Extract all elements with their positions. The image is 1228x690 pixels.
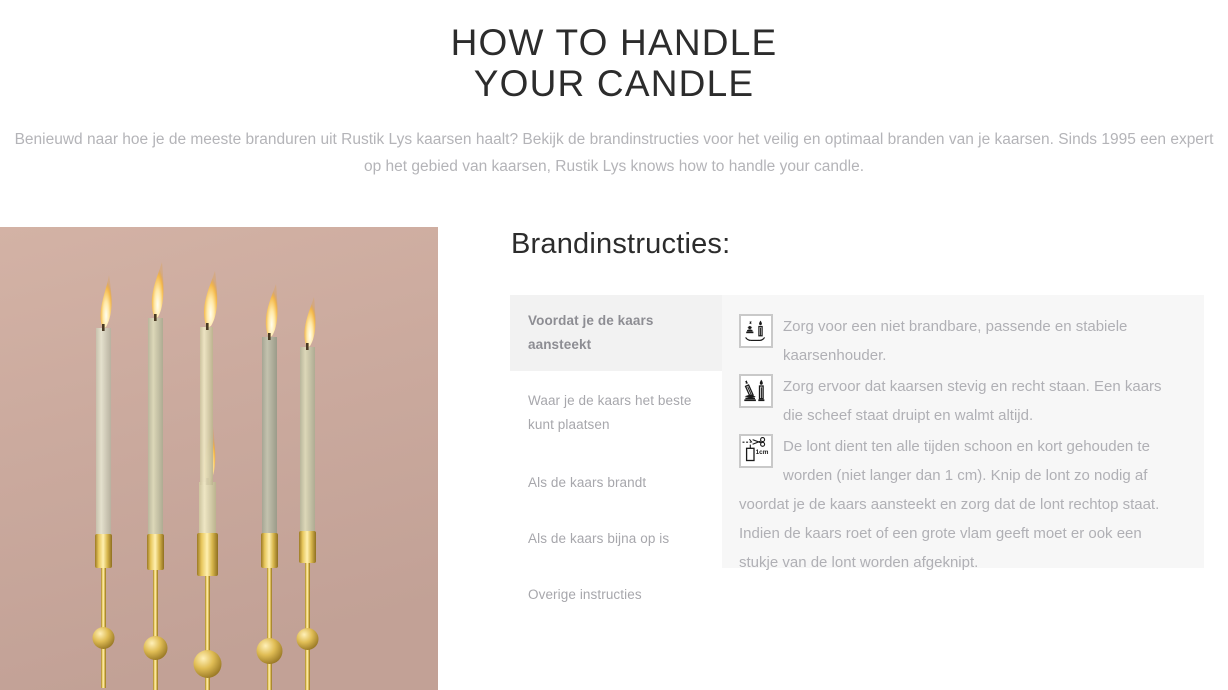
- tab-waar-je-de-kaars-het-beste-kunt-plaatsen[interactable]: Waar je de kaars het beste kunt plaatsen: [510, 371, 722, 455]
- instruction-text: Zorg voor een niet brandbare, passende e…: [783, 318, 1127, 364]
- section-title: Brandinstructies:: [510, 227, 1204, 261]
- instructions-column: Brandinstructies:: [510, 227, 1204, 261]
- instruction-text: Zorg ervoor dat kaarsen stevig en recht …: [783, 378, 1162, 424]
- page-title-line-2: YOUR CANDLE: [164, 63, 1064, 104]
- candle-photo: [0, 227, 438, 690]
- candle-upright-icon-glyph: [741, 376, 771, 406]
- candle-upright-icon: [739, 374, 773, 408]
- instructions-tabs: Voordat je de kaars aansteekt Waar je de…: [510, 295, 1204, 568]
- instruction-item: Zorg voor een niet brandbare, passende e…: [739, 312, 1182, 370]
- trim-wick-icon-label: 1cm: [756, 449, 769, 456]
- trim-wick-scissors-icon: 1cm: [739, 434, 773, 468]
- candle-photo-illustration: [0, 227, 438, 690]
- tab-overige-instructies[interactable]: Overige instructies: [510, 567, 722, 623]
- page-title-line-1: HOW TO HANDLE: [451, 22, 778, 63]
- candle-holder-stable-icon-glyph: [741, 316, 771, 346]
- page-root: HOW TO HANDLE YOUR CANDLE Benieuwd naar …: [0, 0, 1228, 690]
- instruction-item: Zorg ervoor dat kaarsen stevig en recht …: [739, 372, 1182, 430]
- hero-subtitle: Benieuwd naar hoe je de meeste branduren…: [12, 126, 1217, 180]
- instruction-text: De lont dient ten alle tijden schoon en …: [739, 438, 1159, 571]
- tab-als-de-kaars-brandt[interactable]: Als de kaars brandt: [510, 455, 722, 511]
- tab-als-de-kaars-bijna-op-is[interactable]: Als de kaars bijna op is: [510, 511, 722, 567]
- page-title: HOW TO HANDLE YOUR CANDLE: [164, 22, 1064, 104]
- tab-panel-content: Zorg voor een niet brandbare, passende e…: [722, 295, 1204, 568]
- tab-voordat-je-de-kaars-aansteekt[interactable]: Voordat je de kaars aansteekt: [510, 295, 722, 371]
- tab-list: Voordat je de kaars aansteekt Waar je de…: [510, 295, 722, 568]
- instruction-item: 1cm De lont dient ten alle tijden schoon…: [739, 432, 1182, 577]
- main-content: Brandinstructies: Voordat je de kaars aa…: [0, 227, 1228, 690]
- candle-holder-stable-icon: [739, 314, 773, 348]
- hero-section: HOW TO HANDLE YOUR CANDLE Benieuwd naar …: [0, 0, 1228, 180]
- trim-wick-scissors-icon-glyph: 1cm: [741, 436, 771, 466]
